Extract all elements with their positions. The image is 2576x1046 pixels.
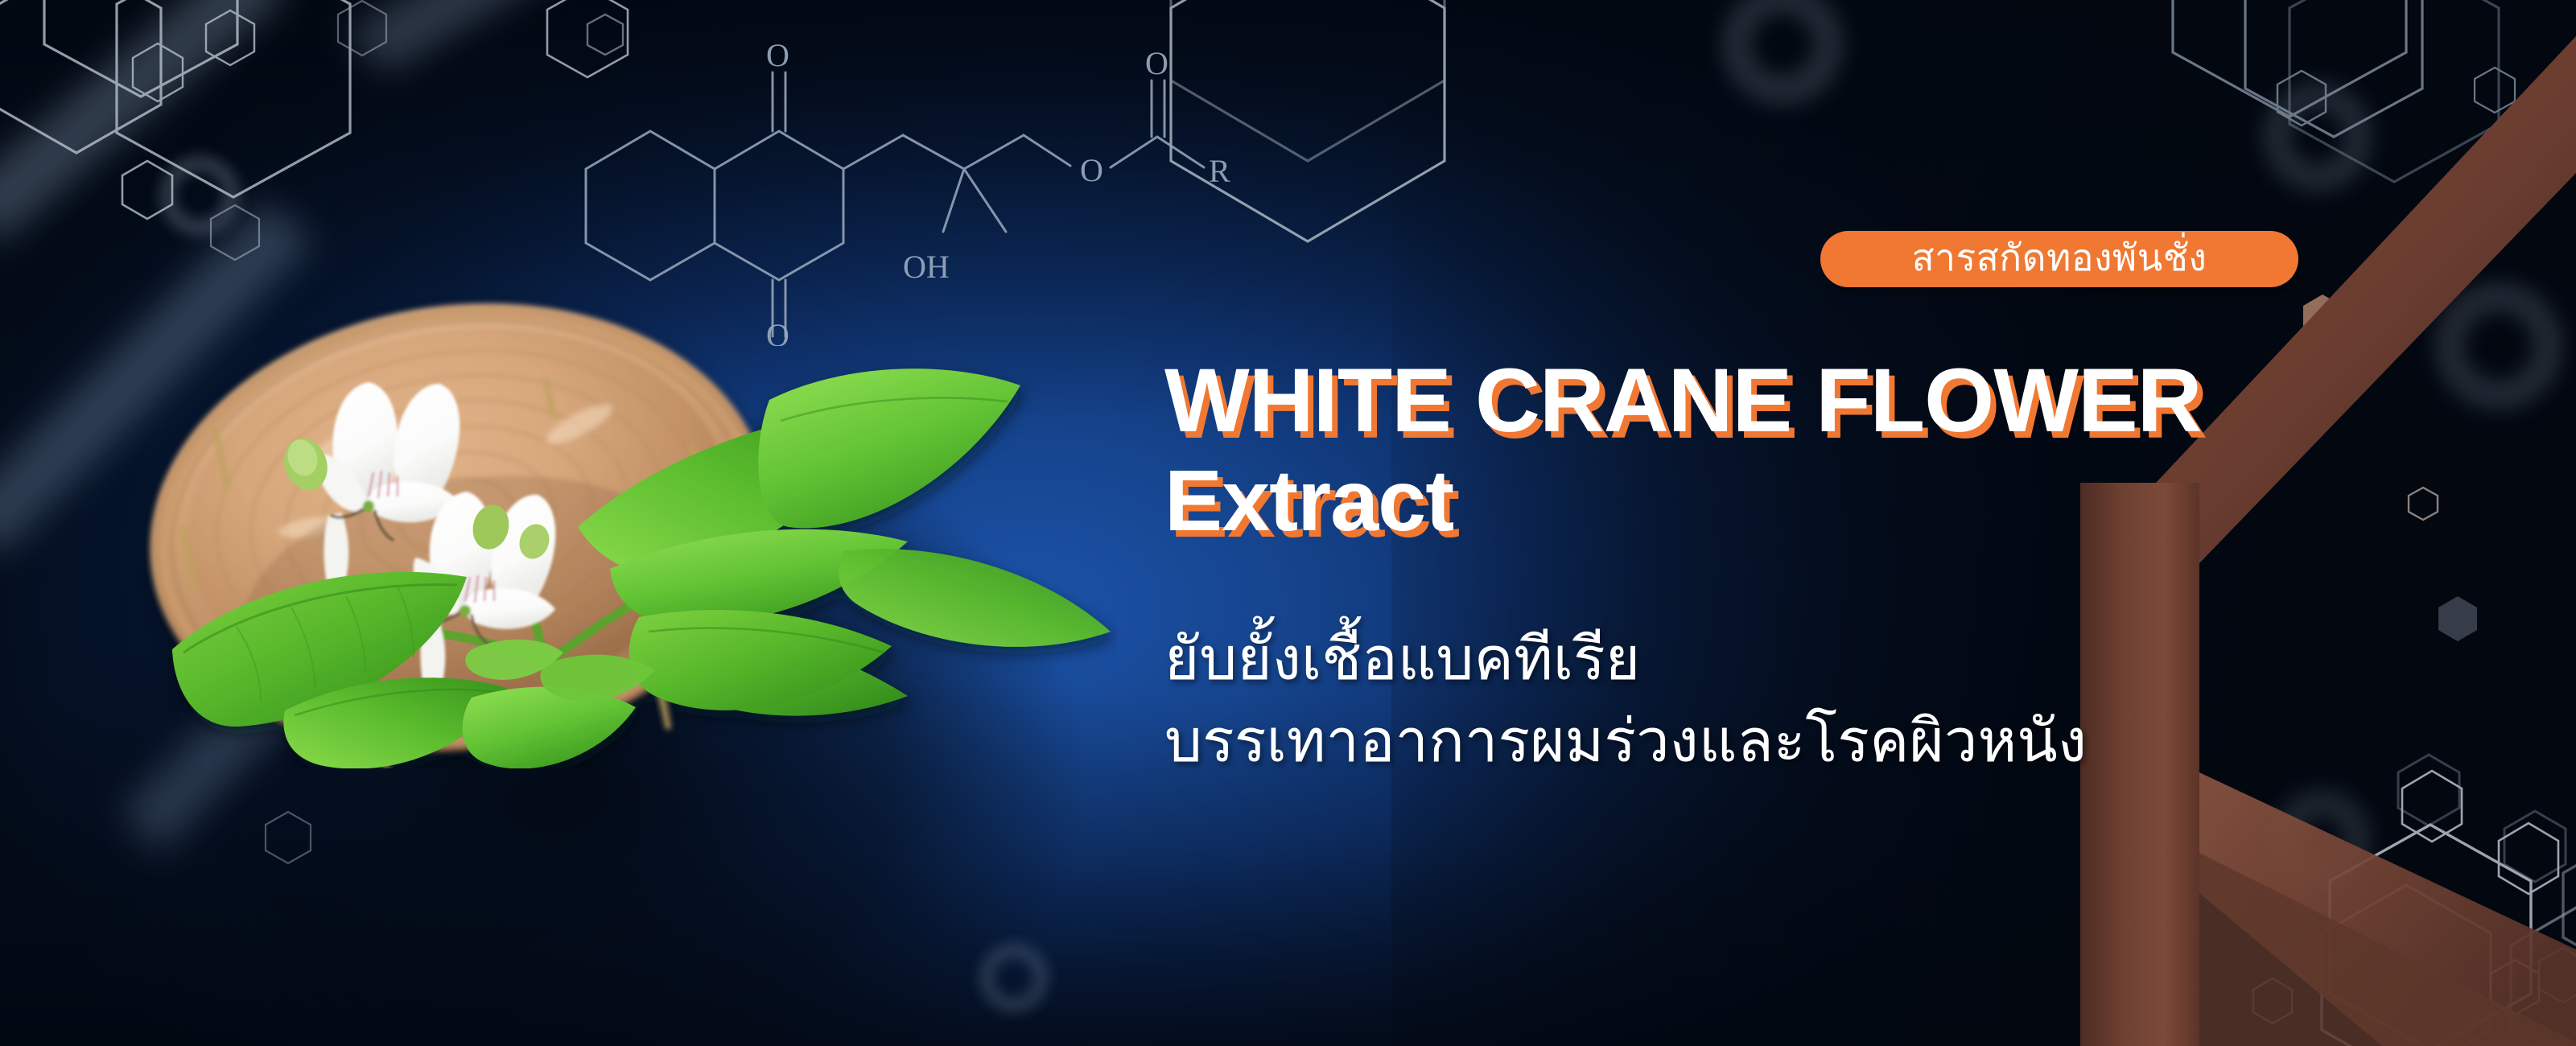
extract-badge-label: สารสกัดทองพันชั่ง <box>1912 239 2207 276</box>
subtitle-line2: บรรเทาอาการผมร่วงและโรคผิวหนัง <box>1164 711 2087 771</box>
chem-label-o-ester: O <box>1080 152 1103 188</box>
white-crane-flower-photo <box>95 286 1117 768</box>
chem-label-oh: OH <box>903 249 950 285</box>
chem-label-o-top: O <box>766 37 789 73</box>
page-title-line2: Extract <box>1164 457 1453 544</box>
subtitle-line1: ยับยั้งเชื้อแบคทีเรีย <box>1164 629 1640 689</box>
extract-badge[interactable]: สารสกัดทองพันชั่ง <box>1820 231 2298 287</box>
banner-content: สารสกัดทองพันชั่ง WHITE CRANE FLOWER Ext… <box>1164 0 2452 1046</box>
promotional-banner: O O OH O O R <box>0 0 2576 1046</box>
page-title-line1: WHITE CRANE FLOWER <box>1164 356 2202 446</box>
